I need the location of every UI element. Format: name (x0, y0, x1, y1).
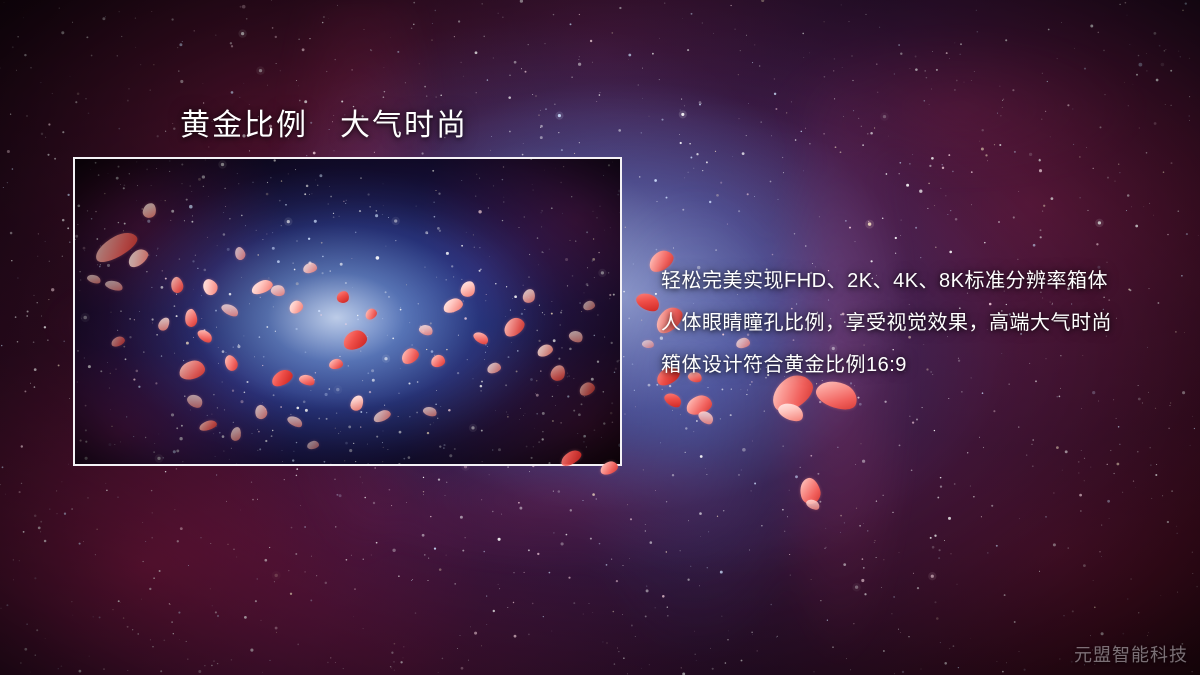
panel-vignette (75, 159, 620, 464)
petal (662, 390, 684, 410)
body-line: 人体眼睛瞳孔比例，享受视觉效果，高端大气时尚 (661, 302, 1181, 344)
petal (797, 476, 823, 507)
body-line: 轻松完美实现FHD、2K、4K、8K标准分辨率箱体 (661, 260, 1181, 302)
presentation-slide: 黄金比例 大气时尚 轻松完美实现FHD、2K、4K、8K标准分辨率箱体 人体眼睛… (0, 0, 1200, 675)
petal (684, 393, 714, 417)
petal (634, 289, 663, 315)
body-line: 箱体设计符合黄金比例16:9 (661, 344, 1181, 386)
watermark: 元盟智能科技 (1074, 641, 1188, 667)
petal (641, 339, 654, 349)
body-text-block: 轻松完美实现FHD、2K、4K、8K标准分辨率箱体 人体眼睛瞳孔比例，享受视觉效… (661, 260, 1181, 386)
page-title: 黄金比例 大气时尚 (180, 100, 468, 144)
video-panel[interactable] (73, 157, 622, 466)
petal (776, 399, 806, 424)
petal (805, 497, 822, 512)
petal (696, 408, 715, 427)
